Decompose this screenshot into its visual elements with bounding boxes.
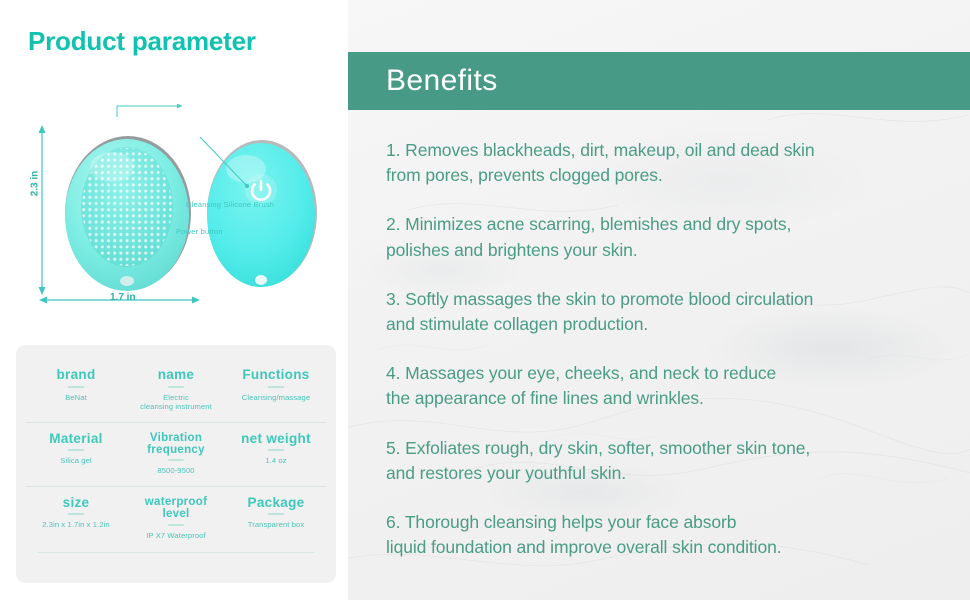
- dim-arrow-left: [39, 297, 47, 304]
- spec-cell-material: Material Silica gel: [26, 423, 126, 486]
- callout-dot-power: [245, 184, 249, 188]
- spec-row: brand BeNat name Electriccleansing instr…: [26, 359, 326, 422]
- benefit-item: 6. Thorough cleansing helps your face ab…: [386, 510, 950, 560]
- callout-label-brush: Cleansing Silicone Brush: [186, 200, 274, 209]
- benefit-item: 1. Removes blackheads, dirt, makeup, oil…: [386, 138, 950, 188]
- right-panel: Benefits 1. Removes blackheads, dirt, ma…: [348, 0, 970, 600]
- spec-value: Transparent box: [248, 520, 305, 529]
- callout-label-power: Power button: [176, 227, 223, 236]
- spec-divider: [168, 524, 184, 526]
- spec-divider: [68, 386, 84, 388]
- spec-value: Electriccleansing instrument: [140, 393, 212, 412]
- diagram-illustration: [0, 95, 348, 330]
- product-diagram: Cleansing Silicone Brush Power button: [0, 95, 348, 330]
- dimension-width-label: 1.7 in: [110, 292, 136, 303]
- spec-value: 1.4 oz: [265, 456, 286, 465]
- spec-value: BeNat: [65, 393, 87, 402]
- spec-value: IP X7 Waterproof: [146, 531, 205, 540]
- spec-cell-functions: Functions Cleansing/massage: [226, 359, 326, 422]
- dimension-height-label: 2.3 in: [29, 171, 40, 197]
- left-panel: Product parameter: [0, 0, 348, 600]
- spec-divider: [168, 386, 184, 388]
- benefits-title: Benefits: [386, 64, 498, 98]
- spec-cell-waterproof-level: waterprooflevel IP X7 Waterproof: [126, 487, 226, 550]
- spec-cell-brand: brand BeNat: [26, 359, 126, 422]
- benefit-item: 2. Minimizes acne scarring, blemishes an…: [386, 212, 950, 262]
- benefit-item: 3. Softly massages the skin to promote b…: [386, 287, 950, 337]
- spec-key: waterprooflevel: [145, 496, 207, 521]
- spec-key: Functions: [242, 368, 309, 383]
- dim-arrow-top: [39, 125, 46, 133]
- benefit-item: 5. Exfoliates rough, dry skin, softer, s…: [386, 436, 950, 486]
- spec-divider: [268, 513, 284, 515]
- dim-arrow-right: [192, 297, 200, 304]
- page-title: Product parameter: [28, 26, 256, 57]
- spec-value: Silica gel: [60, 456, 91, 465]
- spec-key: brand: [56, 368, 95, 383]
- spec-key: net weight: [241, 432, 311, 447]
- spec-divider: [268, 449, 284, 451]
- spec-cell-package: Package Transparent box: [226, 487, 326, 550]
- spec-divider: [68, 513, 84, 515]
- benefits-list: 1. Removes blackheads, dirt, makeup, oil…: [386, 138, 950, 560]
- product-infographic: Product parameter: [0, 0, 970, 600]
- device-front-view: [65, 136, 191, 291]
- spec-cell-name: name Electriccleansing instrument: [126, 359, 226, 422]
- spec-value: Cleansing/massage: [242, 393, 310, 402]
- spec-table: brand BeNat name Electriccleansing instr…: [16, 345, 336, 583]
- spec-key: Vibrationfrequency: [147, 432, 205, 457]
- spec-cell-vibration-frequency: Vibrationfrequency 8500-9500: [126, 423, 226, 486]
- spec-divider: [168, 459, 184, 461]
- spec-cell-size: size 2.3in x 1.7in x 1.2in: [26, 487, 126, 550]
- spec-divider: [268, 386, 284, 388]
- spec-key: Package: [248, 496, 305, 511]
- spec-divider: [68, 449, 84, 451]
- spec-value: 2.3in x 1.7in x 1.2in: [42, 520, 110, 529]
- spec-key: size: [63, 496, 90, 511]
- benefit-item: 4. Massages your eye, cheeks, and neck t…: [386, 361, 950, 411]
- spec-row: size 2.3in x 1.7in x 1.2in waterprooflev…: [26, 486, 326, 550]
- spec-key: Material: [49, 432, 102, 447]
- spec-row: Material Silica gel Vibrationfrequency 8…: [26, 422, 326, 486]
- spec-cell-net-weight: net weight 1.4 oz: [226, 423, 326, 486]
- callout-arrow-brush: [177, 104, 182, 109]
- spec-bottom-rule: [38, 552, 314, 553]
- spec-value: 8500-9500: [157, 466, 194, 475]
- spec-key: name: [158, 368, 194, 383]
- benefits-banner: Benefits: [348, 52, 970, 110]
